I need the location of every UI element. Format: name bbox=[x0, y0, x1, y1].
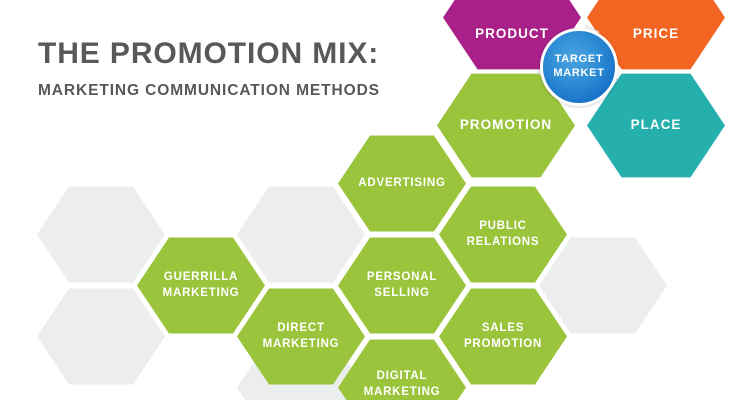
target-market-label-line2: MARKET bbox=[553, 67, 604, 81]
empty-hexagon-2 bbox=[37, 287, 165, 386]
method-hexagon-guerrilla-marketing-label: GUERRILLA MARKETING bbox=[155, 270, 248, 301]
target-market-badge[interactable]: TARGET MARKET bbox=[534, 22, 624, 112]
method-hexagon-sales-promotion[interactable]: SALES PROMOTION bbox=[439, 287, 567, 386]
empty-hexagon-5 bbox=[539, 236, 667, 335]
mix-hexagon-place-label: PLACE bbox=[623, 116, 690, 134]
page-subtitle: MARKETING COMMUNICATION METHODS bbox=[38, 82, 438, 100]
infographic-canvas: THE PROMOTION MIX: MARKETING COMMUNICATI… bbox=[0, 0, 750, 400]
empty-hexagon-3 bbox=[237, 185, 365, 284]
method-hexagon-sales-promotion-label: SALES PROMOTION bbox=[456, 321, 550, 352]
method-hexagon-advertising-label: ADVERTISING bbox=[350, 176, 453, 192]
method-hexagon-personal-selling-label: PERSONAL SELLING bbox=[359, 270, 445, 301]
method-hexagon-advertising[interactable]: ADVERTISING bbox=[338, 134, 466, 233]
method-hexagon-guerrilla-marketing[interactable]: GUERRILLA MARKETING bbox=[137, 236, 265, 335]
mix-hexagon-price-label: PRICE bbox=[625, 25, 687, 43]
page-title: THE PROMOTION MIX: bbox=[38, 38, 438, 70]
method-hexagon-direct-marketing-label: DIRECT MARKETING bbox=[255, 321, 348, 352]
method-hexagon-digital-marketing-label: DIGITAL MARKETING bbox=[356, 369, 449, 400]
method-hexagon-public-relations[interactable]: PUBLIC RELATIONS bbox=[439, 185, 567, 284]
target-market-label-line1: TARGET bbox=[553, 53, 604, 67]
mix-hexagon-promotion-label: PROMOTION bbox=[452, 116, 560, 134]
target-market-circle: TARGET MARKET bbox=[540, 28, 618, 106]
title-block: THE PROMOTION MIX: MARKETING COMMUNICATI… bbox=[38, 38, 438, 100]
empty-hexagon-1 bbox=[37, 185, 165, 284]
target-market-label: TARGET MARKET bbox=[553, 53, 604, 81]
method-hexagon-public-relations-label: PUBLIC RELATIONS bbox=[459, 219, 548, 250]
method-hexagon-personal-selling[interactable]: PERSONAL SELLING bbox=[338, 236, 466, 335]
